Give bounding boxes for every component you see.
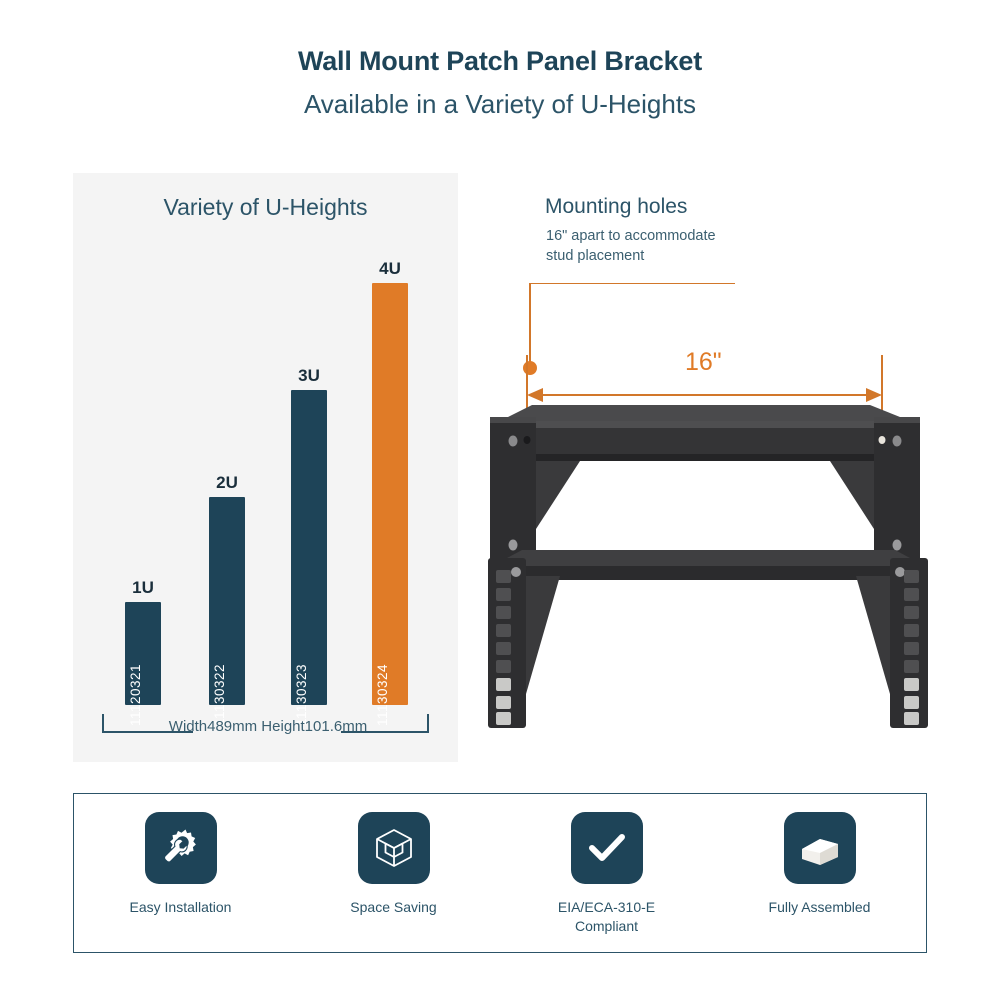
page-header: Wall Mount Patch Panel Bracket Available… xyxy=(0,44,1000,121)
product-illustration-column: Mounting holes 16" apart to accommodate … xyxy=(470,173,940,762)
bar-1u: 1U 11120321 xyxy=(125,602,161,705)
bar-label-2u: 2U xyxy=(209,473,245,497)
feature-row: Easy Installation Space Saving xyxy=(74,794,926,952)
leader-dot xyxy=(523,361,537,375)
dimension-caption-text: Width489mm Height101.6mm xyxy=(98,714,438,740)
solid-box-icon xyxy=(784,812,856,884)
feature-label-easy-installation: Easy Installation xyxy=(86,898,276,917)
feature-space-saving: Space Saving xyxy=(299,812,489,917)
mounting-holes-description: 16" apart to accommodate stud placement xyxy=(546,226,816,266)
bar-label-3u: 3U xyxy=(291,366,327,390)
feature-fully-assembled: Fully Assembled xyxy=(725,812,915,917)
dimension-16-label: 16" xyxy=(685,348,722,377)
u-height-chart-panel: Variety of U-Heights 1U 11120321 2U 1113… xyxy=(73,173,458,762)
cube-outline-icon xyxy=(358,812,430,884)
gear-wrench-icon xyxy=(145,812,217,884)
bar-label-1u: 1U xyxy=(125,578,161,602)
bar-2u: 2U 11130322 xyxy=(209,497,245,705)
bar-3u: 3U 11130323 xyxy=(291,390,327,705)
feature-eia-compliant: EIA/ECA-310-E Compliant xyxy=(512,812,702,936)
feature-easy-installation: Easy Installation xyxy=(86,812,276,917)
feature-label-eia-line1: EIA/ECA-310-E xyxy=(512,898,702,917)
feature-label-eia-line2: Compliant xyxy=(512,917,702,936)
feature-highlights-box: Easy Installation Space Saving xyxy=(73,793,927,953)
dimension-caption: Width489mm Height101.6mm xyxy=(98,714,438,748)
bar-label-4u: 4U xyxy=(372,259,408,283)
check-icon xyxy=(571,812,643,884)
feature-label-space-saving: Space Saving xyxy=(299,898,489,917)
page-title: Wall Mount Patch Panel Bracket xyxy=(0,44,1000,78)
page-subtitle: Available in a Variety of U-Heights xyxy=(0,87,1000,121)
feature-label-eia-compliant: EIA/ECA-310-E Compliant xyxy=(512,898,702,936)
mounting-holes-line1: 16" apart to accommodate xyxy=(546,226,816,246)
mounting-holes-title: Mounting holes xyxy=(545,195,687,219)
feature-label-fully-assembled: Fully Assembled xyxy=(725,898,915,917)
bar-4u: 4U 11130324 xyxy=(372,283,408,705)
bracket-rear-view-diagram xyxy=(470,536,940,756)
mounting-holes-line2: stud placement xyxy=(546,246,816,266)
bar-chart-plot-area: 1U 11120321 2U 11130322 3U 11130323 4U xyxy=(73,173,458,762)
bar-rect-3u xyxy=(291,390,327,705)
bar-rect-4u xyxy=(372,283,408,705)
